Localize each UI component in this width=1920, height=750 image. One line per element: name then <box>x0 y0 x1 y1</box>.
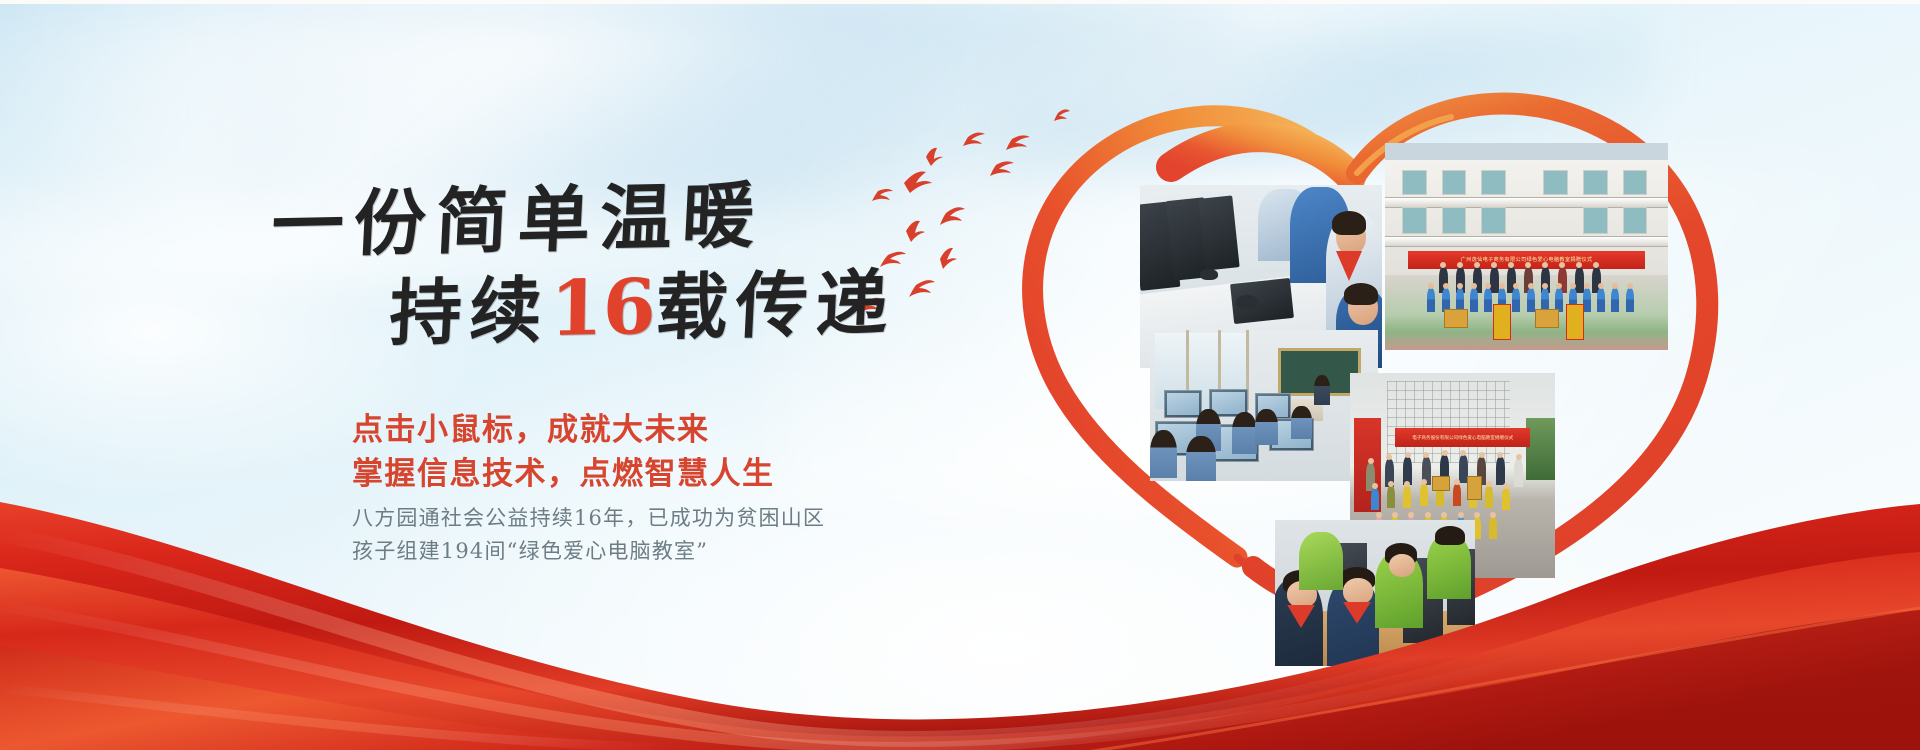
headline-line-2: 持续16载传递 <box>388 262 1012 351</box>
indoor-ceremony-banner-label: 电子商务股份有限公司绿色爱心电脑教室捐赠仪式 <box>1412 435 1513 441</box>
indoor-ceremony-banner-text: 电子商务股份有限公司绿色爱心电脑教室捐赠仪式 <box>1395 428 1530 446</box>
headline-line-1: 一份简单温暖 <box>270 177 894 262</box>
headline-line-2-prefix: 持续 <box>388 267 552 355</box>
subheadline-line-1: 点击小鼠标，成就大未来 <box>352 404 912 449</box>
donation-ceremony-group-photo: 广州逸仙电子商务有限公司绿色爱心电脑教室捐赠仪式 <box>1385 143 1668 350</box>
red-silk-ribbon-icon <box>0 450 1920 750</box>
charity-banner: 广州逸仙电子商务有限公司绿色爱心电脑教室捐赠仪式 <box>0 0 1920 750</box>
headline-line-2-suffix: 载传递 <box>654 260 898 350</box>
top-edge-strip <box>0 0 1920 4</box>
headline-year-number: 16 <box>549 269 656 347</box>
